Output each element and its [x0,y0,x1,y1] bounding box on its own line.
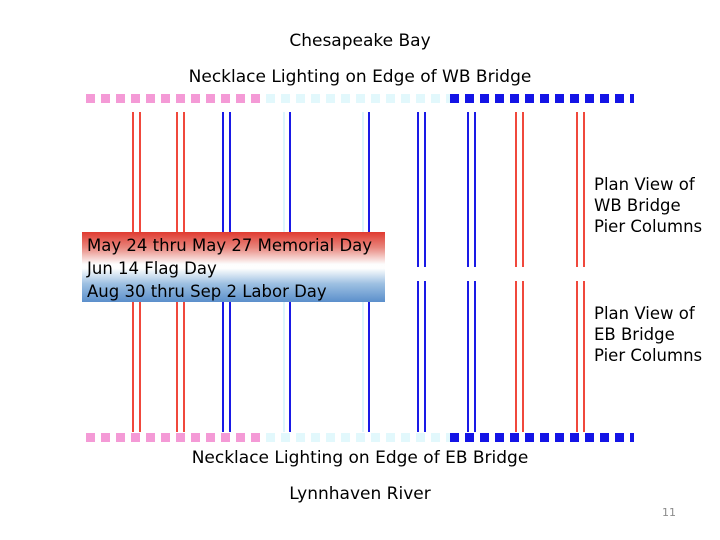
pier-column-eb-11 [424,281,426,432]
pier-column-eb-1 [139,281,141,432]
pier-column-eb-8 [362,281,364,432]
pier-column-eb-17 [583,281,585,432]
wb-necklace-pale-section [266,94,450,103]
slide-canvas: Chesapeake Bay Necklace Lighting on Edge… [0,0,720,540]
pier-column-eb-5 [229,281,231,432]
eb-necklace-blue-section [450,433,634,442]
pier-column-eb-10 [417,281,419,432]
side-label-wb-pier-columns: Plan View of WB Bridge Pier Columns [594,174,702,237]
pier-column-eb-2 [176,281,178,432]
side-label-eb-pier-columns: Plan View of EB Bridge Pier Columns [594,303,702,366]
pier-column-eb-14 [515,281,517,432]
holiday-lighting-legend: May 24 thru May 27 Memorial Day Jun 14 F… [82,232,385,302]
eb-necklace-lighting-label: Necklace Lighting on Edge of EB Bridge [0,450,720,467]
pier-column-eb-6 [283,281,285,432]
page-title-chesapeake-bay: Chesapeake Bay [0,33,720,50]
necklace-lighting-eb-bridge [86,433,634,442]
pier-column-eb-7 [289,281,291,432]
pier-column-eb-3 [183,281,185,432]
pier-column-eb-4 [222,281,224,432]
pier-column-eb-15 [522,281,524,432]
page-title-lynnhaven-river: Lynnhaven River [0,486,720,503]
wb-necklace-blue-section [450,94,634,103]
pier-column-eb-13 [474,281,476,432]
pier-column-eb-0 [132,281,134,432]
pier-column-eb-16 [576,281,578,432]
necklace-lighting-wb-bridge [86,94,634,103]
pier-column-eb-12 [467,281,469,432]
pier-column-wb-14 [515,112,517,267]
pier-column-wb-12 [467,112,469,267]
wb-necklace-lighting-label: Necklace Lighting on Edge of WB Bridge [0,69,720,86]
legend-line-labor-day: Aug 30 thru Sep 2 Labor Day [87,284,327,301]
pier-column-wb-15 [522,112,524,267]
pier-column-wb-16 [576,112,578,267]
pier-column-wb-17 [583,112,585,267]
pier-column-eb-9 [368,281,370,432]
legend-line-memorial-day: May 24 thru May 27 Memorial Day [87,238,372,255]
page-number: 11 [662,506,676,519]
eb-necklace-pink-section [86,433,266,442]
pier-column-wb-11 [424,112,426,267]
legend-line-flag-day: Jun 14 Flag Day [87,261,217,278]
pier-column-wb-13 [474,112,476,267]
pier-column-wb-10 [417,112,419,267]
eb-necklace-pale-section [266,433,450,442]
wb-necklace-pink-section [86,94,266,103]
